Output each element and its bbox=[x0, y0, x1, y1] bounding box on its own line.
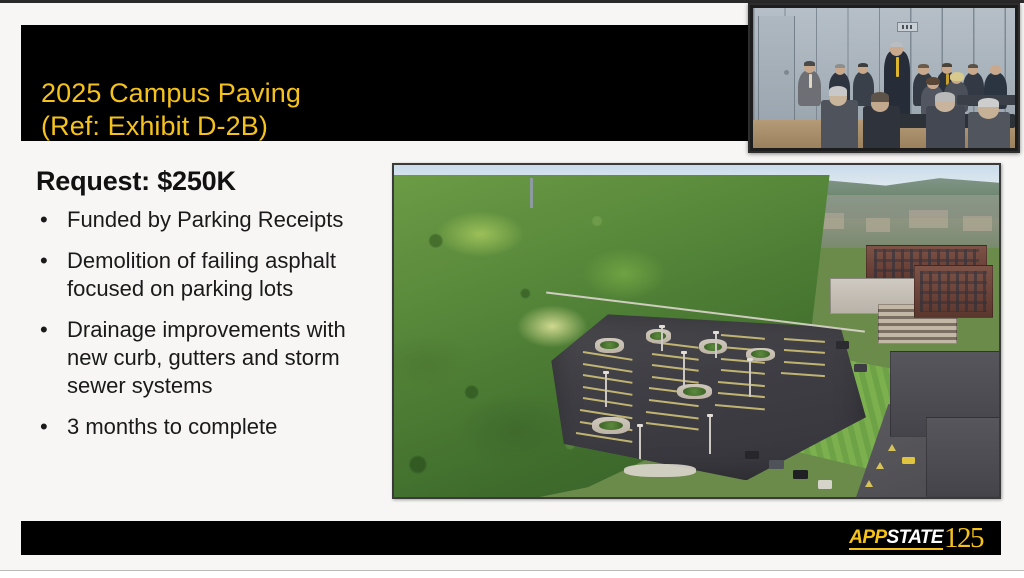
video-foreground-hair bbox=[829, 86, 847, 96]
photo-light-pole bbox=[605, 374, 607, 407]
list-item-text: Funded by Parking Receipts bbox=[67, 207, 343, 232]
photo-parked-car bbox=[793, 470, 808, 479]
video-foreground-chair bbox=[863, 106, 900, 148]
photo-brick-building bbox=[914, 265, 993, 318]
photo-cell-tower bbox=[530, 178, 533, 208]
photo-light-pole bbox=[709, 417, 711, 454]
content-column: Request: $250K • Funded by Parking Recei… bbox=[21, 150, 387, 515]
aerial-photo-content bbox=[394, 165, 999, 497]
request-heading: Request: $250K bbox=[36, 166, 236, 197]
video-attendee-hair bbox=[926, 77, 940, 85]
video-attendee-hair bbox=[942, 63, 952, 67]
bullet-marker-icon: • bbox=[40, 247, 48, 275]
bullet-marker-icon: • bbox=[40, 413, 48, 441]
photo-landscape-island bbox=[646, 329, 671, 342]
title-banner: 2025 Campus Paving (Ref: Exhibit D-2B) bbox=[21, 25, 752, 141]
photo-parked-car bbox=[902, 457, 915, 464]
video-attendee-tie bbox=[809, 74, 812, 88]
list-item: • Demolition of failing asphalt focused … bbox=[35, 247, 387, 303]
video-attendee-hair bbox=[950, 72, 964, 80]
logo-anniversary-number: 125 bbox=[944, 524, 983, 553]
list-item-text: Demolition of failing asphalt focused on… bbox=[67, 248, 336, 301]
photo-light-pole bbox=[749, 361, 751, 398]
video-speaker-tie bbox=[896, 57, 899, 77]
video-exit-sign bbox=[897, 22, 918, 32]
bullet-list: • Funded by Parking Receipts • Demolitio… bbox=[35, 206, 387, 454]
video-frame-content bbox=[753, 8, 1015, 148]
photo-building-roof bbox=[926, 417, 999, 497]
list-item-text: Drainage improvements with new curb, gut… bbox=[67, 317, 346, 398]
video-attendee-head bbox=[990, 65, 1000, 75]
list-item-text: 3 months to complete bbox=[67, 414, 277, 439]
video-speaker-hair bbox=[890, 42, 903, 48]
video-door bbox=[758, 16, 795, 120]
photo-landscape-island bbox=[699, 339, 727, 354]
presentation-screen: 2025 Campus Paving (Ref: Exhibit D-2B) R… bbox=[0, 0, 1024, 578]
photo-light-pole bbox=[715, 334, 717, 357]
video-attendee-hair bbox=[918, 64, 928, 68]
logo-wordmark: APPSTATE bbox=[849, 528, 943, 549]
photo-landscape-island bbox=[677, 384, 712, 399]
video-attendee-hair bbox=[835, 64, 845, 68]
photo-sidewalk bbox=[624, 464, 697, 477]
list-item: • Drainage improvements with new curb, g… bbox=[35, 316, 387, 400]
aerial-photo bbox=[392, 163, 1001, 499]
photo-parked-car bbox=[745, 451, 760, 460]
bottom-bar: APPSTATE 125 bbox=[21, 521, 1001, 555]
logo-app-text: APP bbox=[849, 527, 886, 548]
photo-parked-car bbox=[818, 480, 833, 489]
video-foreground-hair bbox=[935, 92, 955, 102]
photo-landscape-island bbox=[595, 338, 623, 353]
photo-light-pole bbox=[683, 354, 685, 387]
photo-parked-car bbox=[836, 341, 849, 349]
logo-underline bbox=[849, 548, 943, 550]
list-item: • 3 months to complete bbox=[35, 413, 387, 441]
bullet-marker-icon: • bbox=[40, 316, 48, 344]
video-overlay[interactable] bbox=[748, 3, 1020, 153]
photo-parked-car bbox=[769, 460, 784, 469]
bullet-marker-icon: • bbox=[40, 206, 48, 234]
photo-light-pole bbox=[639, 427, 641, 460]
photo-light-pole bbox=[661, 328, 663, 351]
video-attendee-hair bbox=[858, 63, 868, 67]
video-foreground-chair bbox=[821, 100, 858, 148]
video-foreground-hair bbox=[978, 98, 999, 108]
video-foreground-chair bbox=[926, 106, 965, 148]
logo-state-text: STATE bbox=[887, 527, 943, 548]
slide-title: 2025 Campus Paving (Ref: Exhibit D-2B) bbox=[41, 77, 301, 141]
list-item: • Funded by Parking Receipts bbox=[35, 206, 387, 234]
appstate-125-logo: APPSTATE 125 bbox=[849, 523, 983, 553]
video-attendee-hair bbox=[968, 64, 978, 68]
photo-landscape-island bbox=[592, 417, 630, 434]
video-attendee-hair bbox=[804, 61, 815, 66]
video-foreground-hair bbox=[871, 92, 889, 102]
photo-parked-car bbox=[854, 364, 867, 372]
